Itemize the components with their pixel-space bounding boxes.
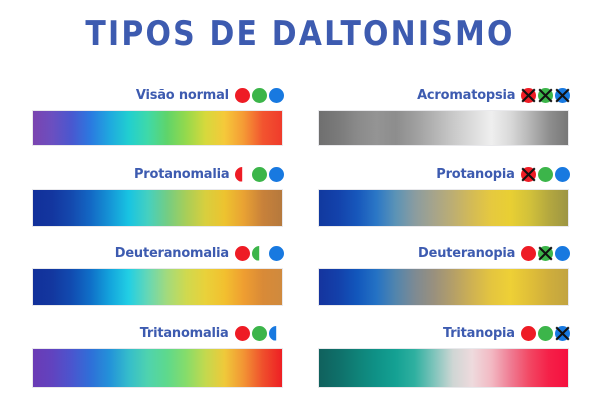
red-cone [521,246,536,261]
red-cone-disc [235,88,250,103]
cone-indicators [521,246,570,261]
panel-header: Deuteranopia [414,242,570,264]
panel-header: Acromatopsia [413,84,570,106]
x-mark-icon [537,245,554,262]
tritanomalia-spectrum [32,348,283,388]
red-cone [235,88,250,103]
red-cone-disc [235,326,250,341]
panel-header: Protanopia [433,163,570,185]
panel-label: Tritanopia [443,325,515,341]
green-cone [538,88,553,103]
panels-grid: Visão normalProtanomaliaDeuteranomaliaTr… [0,84,600,400]
panel-header: Deuteranomalia [110,242,284,264]
panel-protanopia: Protanopia [318,163,570,233]
green-cone [538,167,553,182]
panel-deuteranomalia: Deuteranomalia [32,242,284,312]
green-cone-disc [538,326,553,341]
normal-vision-spectrum [32,110,283,146]
green-cone-disc [538,167,553,182]
green-cone-disc [252,167,267,182]
blue-cone [269,167,284,182]
red-cone-disc [235,246,250,261]
panel-acromatopsia: Acromatopsia [318,84,570,154]
red-cone [235,326,250,341]
cone-indicators [521,88,570,103]
red-cone [521,167,536,182]
red-cone-disc [235,167,250,182]
x-mark-icon [520,166,537,183]
tritanopia-spectrum [318,348,569,388]
page-title: TIPOS DE DALTONISMO [36,14,564,54]
deuteranomalia-spectrum [32,268,283,306]
blue-cone-disc [555,246,570,261]
green-cone [538,326,553,341]
panel-label: Protanopia [437,166,515,182]
acromatopsia-spectrum [318,110,569,146]
blue-cone-disc [269,167,284,182]
panel-header: Protanomalia [130,163,284,185]
green-cone [252,326,267,341]
red-cone-disc [521,246,536,261]
x-mark-icon [554,325,571,342]
panel-label: Deuteranomalia [115,245,229,261]
cone-indicators [235,167,284,182]
x-mark-icon [537,87,554,104]
blue-cone [555,326,570,341]
green-cone-disc [252,246,267,261]
panel-protanomalia: Protanomalia [32,163,284,233]
red-cone [235,246,250,261]
blue-cone-disc [269,326,284,341]
green-cone [252,246,267,261]
panel-header: Visão normal [132,84,284,106]
green-cone-disc [252,88,267,103]
blue-cone-disc [555,167,570,182]
cone-indicators [235,88,284,103]
panel-tritanomalia: Tritanomalia [32,322,284,392]
left-column: Visão normalProtanomaliaDeuteranomaliaTr… [32,84,284,400]
x-mark-icon [554,87,571,104]
red-cone [521,88,536,103]
blue-cone [269,88,284,103]
deuteranopia-spectrum [318,268,569,306]
blue-cone [555,88,570,103]
panel-deuteranopia: Deuteranopia [318,242,570,312]
panel-tritanopia: Tritanopia [318,322,570,392]
panel-header: Tritanomalia [136,322,284,344]
green-cone-disc [252,326,267,341]
protanomalia-spectrum [32,189,283,227]
green-cone [538,246,553,261]
right-column: AcromatopsiaProtanopiaDeuteranopiaTritan… [318,84,570,400]
blue-cone [555,167,570,182]
cone-indicators [521,326,570,341]
blue-cone-disc [269,88,284,103]
daltonism-infographic: TIPOS DE DALTONISMO Visão normalProtanom… [0,0,600,400]
blue-cone [269,326,284,341]
cone-indicators [521,167,570,182]
green-cone [252,88,267,103]
green-cone [252,167,267,182]
blue-cone [555,246,570,261]
red-cone [235,167,250,182]
red-cone [521,326,536,341]
blue-cone-disc [269,246,284,261]
panel-header: Tritanopia [440,322,570,344]
blue-cone [269,246,284,261]
cone-indicators [235,326,284,341]
cone-indicators [235,246,284,261]
protanopia-spectrum [318,189,569,227]
panel-label: Tritanomalia [140,325,229,341]
panel-label: Protanomalia [134,166,229,182]
panel-label: Acromatopsia [417,87,515,103]
x-mark-icon [520,87,537,104]
panel-label: Visão normal [136,87,229,103]
panel-normal-vision: Visão normal [32,84,284,154]
red-cone-disc [521,326,536,341]
panel-label: Deuteranopia [418,245,515,261]
